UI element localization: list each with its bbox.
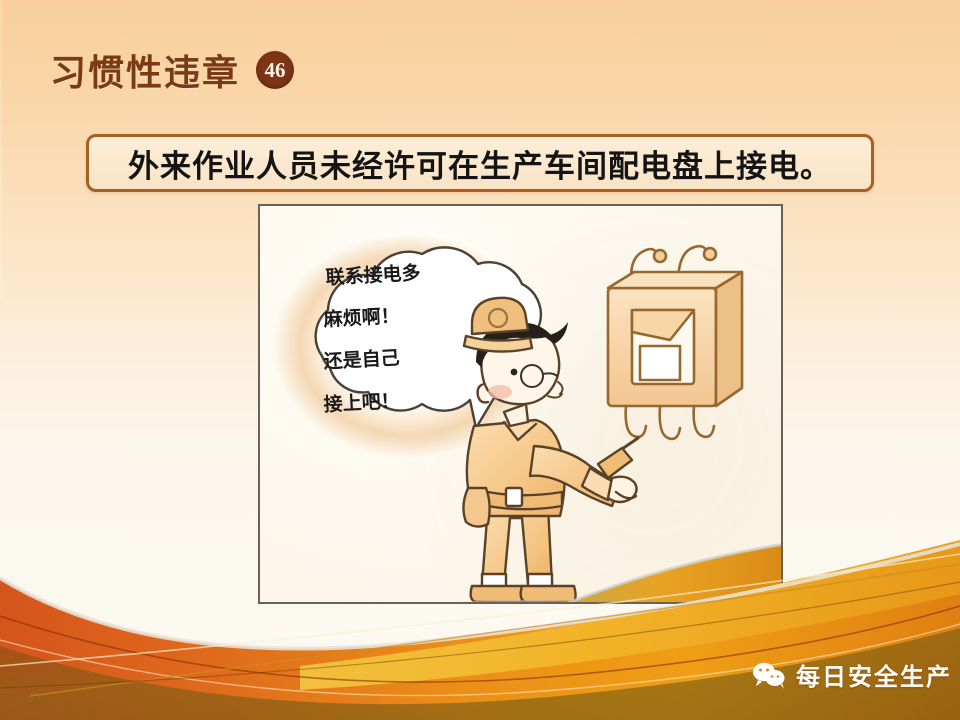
wechat-icon bbox=[752, 661, 786, 689]
violation-description: 外来作业人员未经许可在生产车间配电盘上接电。 bbox=[128, 141, 832, 186]
watermark-text: 每日安全生产 bbox=[796, 657, 952, 692]
badge-number: 46 bbox=[265, 58, 286, 83]
bubble-line-4: 接上吧！ bbox=[323, 390, 400, 416]
slide-number-badge: 46 bbox=[256, 51, 294, 89]
electrical-panel-box bbox=[608, 246, 742, 439]
watermark: 每日安全生产 bbox=[752, 657, 952, 692]
slide-header: 习惯性违章 46 bbox=[50, 44, 294, 96]
violation-callout-box: 外来作业人员未经许可在生产车间配电盘上接电。 bbox=[86, 134, 874, 192]
page-title: 习惯性违章 bbox=[50, 44, 240, 96]
